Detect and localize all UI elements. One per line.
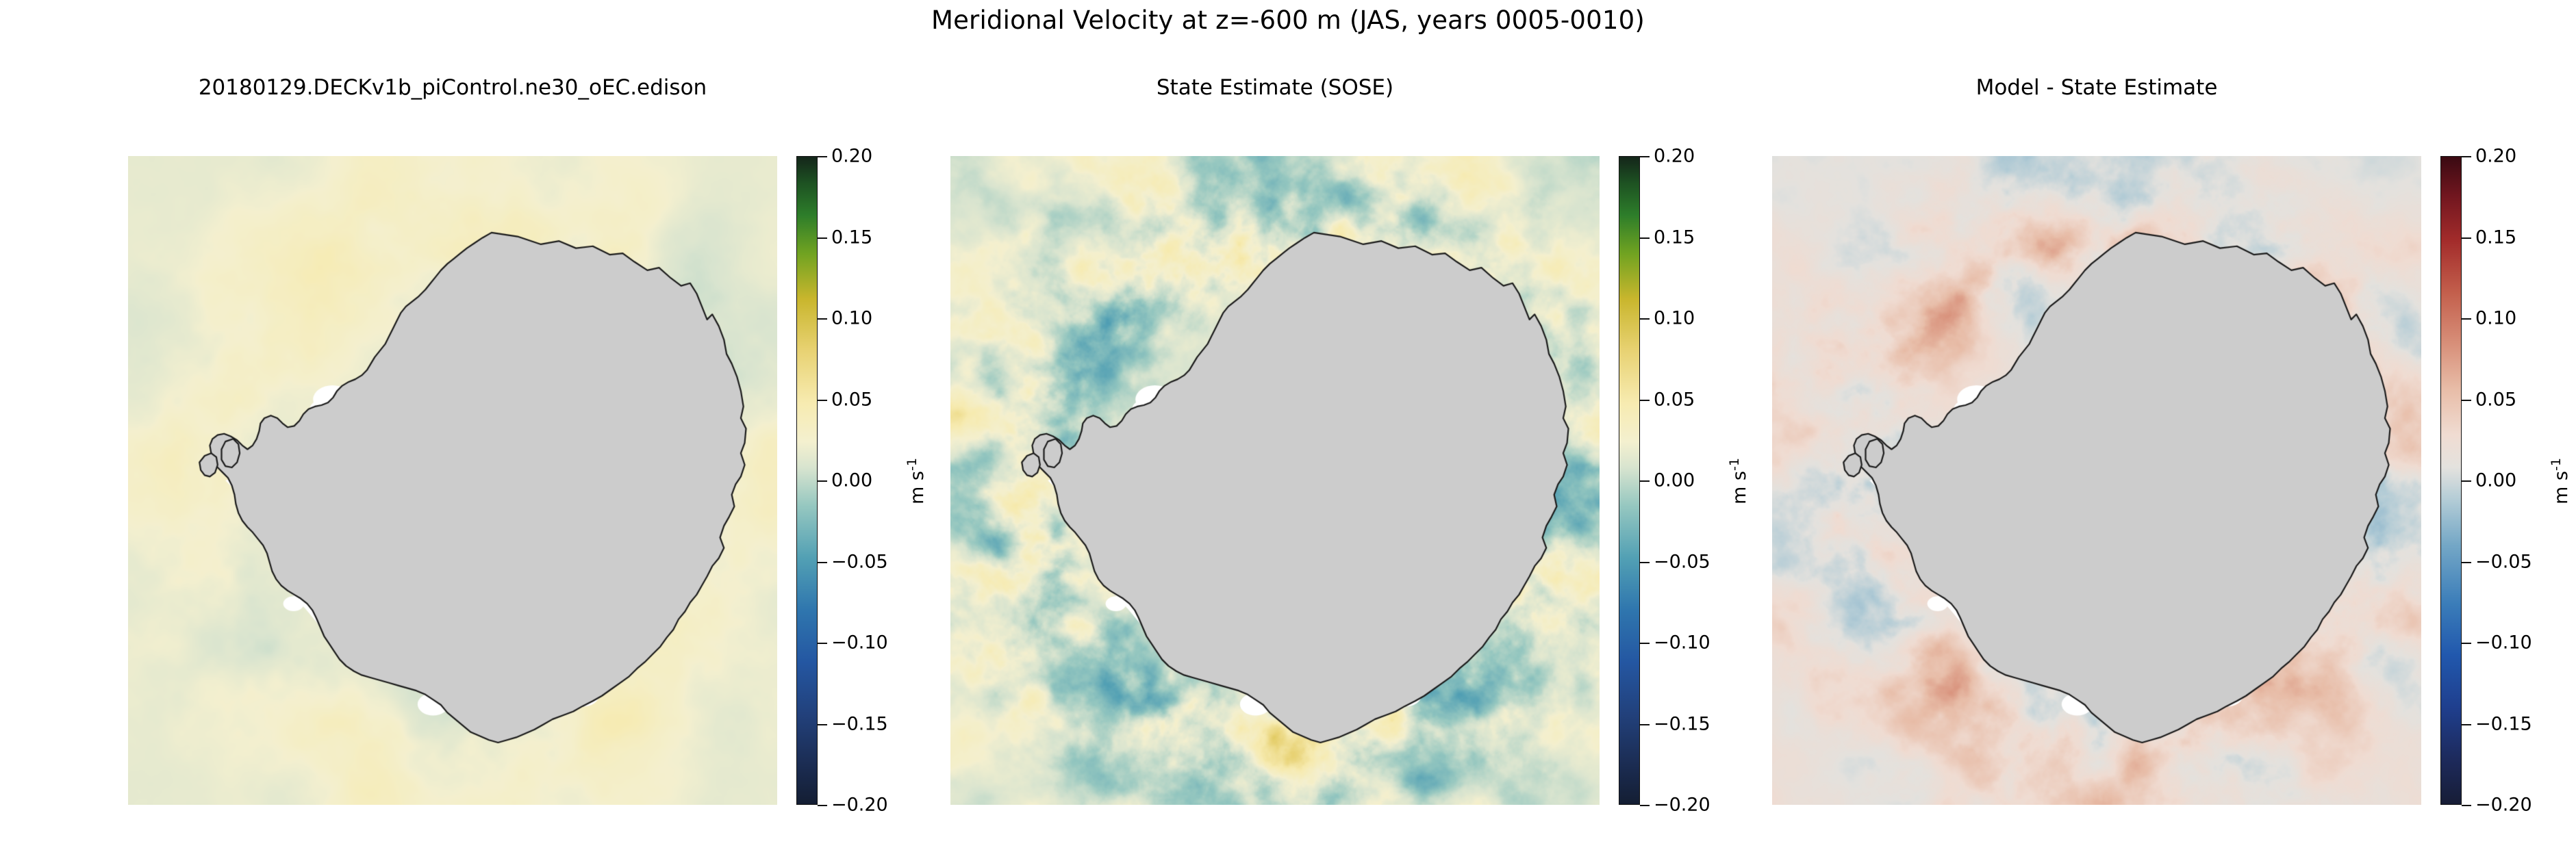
colorbar-tick-label: 0.15 bbox=[1654, 227, 1695, 248]
colorbar-tick-mark bbox=[2462, 237, 2471, 239]
map-panel-difference bbox=[1772, 156, 2421, 805]
colorbar-tick-label: −0.10 bbox=[831, 632, 888, 654]
colorbar-tick-label: −0.05 bbox=[831, 551, 888, 572]
colorbar-tick-mark bbox=[2462, 400, 2471, 401]
colorbar-tick-mark bbox=[1640, 562, 1650, 563]
colorbar-axis-label: m s-1 bbox=[2549, 458, 2572, 504]
colorbar-tick-label: 0.00 bbox=[2475, 470, 2516, 491]
colorbar-tick-label: −0.15 bbox=[831, 713, 888, 734]
colorbar-tick-mark bbox=[2462, 805, 2471, 806]
colorbar-tick-mark bbox=[2462, 724, 2471, 725]
colorbar-tick-mark bbox=[1640, 643, 1650, 644]
map-field-canvas bbox=[128, 156, 777, 805]
colorbar-tick-mark bbox=[818, 237, 827, 239]
colorbar-tick-label: −0.05 bbox=[2475, 551, 2532, 572]
colorbar-tick-mark bbox=[1640, 400, 1650, 401]
colorbar-tick-mark bbox=[1640, 480, 1650, 482]
colorbar-ticks-model: 0.200.150.100.050.00−0.05−0.10−0.15−0.20… bbox=[818, 156, 948, 805]
colorbar-tick-mark bbox=[2462, 318, 2471, 320]
colorbar-tick-mark bbox=[818, 400, 827, 401]
colorbar-tick-label: −0.05 bbox=[1654, 551, 1710, 572]
colorbar-tick-label: 0.15 bbox=[2475, 227, 2516, 248]
colorbar-tick-mark bbox=[2462, 562, 2471, 563]
colorbar-difference bbox=[2440, 156, 2462, 805]
map-panel-model bbox=[128, 156, 777, 805]
colorbar-tick-label: 0.10 bbox=[2475, 308, 2516, 329]
colorbar-tick-mark bbox=[818, 156, 827, 157]
colorbar-tick-label: 0.00 bbox=[831, 470, 872, 491]
figure-suptitle: Meridional Velocity at z=-600 m (JAS, ye… bbox=[0, 5, 2576, 35]
colorbar-state-estimate bbox=[1619, 156, 1640, 805]
colorbar-axis-label: m s-1 bbox=[905, 458, 928, 504]
colorbar-tick-label: −0.15 bbox=[1654, 713, 1710, 734]
colorbar-tick-label: 0.20 bbox=[2475, 146, 2516, 167]
colorbar-tick-label: 0.05 bbox=[831, 389, 872, 410]
colorbar-tick-mark bbox=[2462, 156, 2471, 157]
colorbar-tick-mark bbox=[1640, 156, 1650, 157]
colorbar-tick-mark bbox=[2462, 643, 2471, 644]
colorbar-tick-mark bbox=[818, 724, 827, 725]
colorbar-tick-label: 0.20 bbox=[1654, 146, 1695, 167]
panel-title-state-estimate: State Estimate (SOSE) bbox=[864, 75, 1686, 100]
colorbar-tick-label: −0.15 bbox=[2475, 713, 2532, 734]
colorbar-tick-label: 0.05 bbox=[2475, 389, 2516, 410]
colorbar-tick-label: −0.10 bbox=[2475, 632, 2532, 654]
panel-title-difference: Model - State Estimate bbox=[1686, 75, 2508, 100]
map-panel-state-estimate bbox=[950, 156, 1600, 805]
colorbar-tick-mark bbox=[818, 480, 827, 482]
colorbar-tick-mark bbox=[2462, 480, 2471, 482]
colorbar-tick-mark bbox=[1640, 318, 1650, 320]
colorbar-tick-label: −0.20 bbox=[2475, 795, 2532, 816]
map-field-canvas bbox=[1772, 156, 2421, 805]
colorbar-tick-mark bbox=[818, 318, 827, 320]
colorbar-tick-mark bbox=[1640, 805, 1650, 806]
colorbar-axis-label: m s-1 bbox=[1727, 458, 1750, 504]
colorbar-tick-label: −0.20 bbox=[1654, 795, 1710, 816]
colorbar-tick-label: 0.10 bbox=[831, 308, 872, 329]
colorbar-tick-mark bbox=[818, 643, 827, 644]
colorbar-tick-label: 0.20 bbox=[831, 146, 872, 167]
colorbar-tick-label: −0.10 bbox=[1654, 632, 1710, 654]
colorbar-tick-label: 0.05 bbox=[1654, 389, 1695, 410]
map-field-canvas bbox=[950, 156, 1600, 805]
panel-title-model: 20180129.DECKv1b_piControl.ne30_oEC.edis… bbox=[42, 75, 863, 100]
colorbar-tick-label: 0.10 bbox=[1654, 308, 1695, 329]
colorbar-ticks-state-estimate: 0.200.150.100.050.00−0.05−0.10−0.15−0.20… bbox=[1640, 156, 1770, 805]
colorbar-ticks-difference: 0.200.150.100.050.00−0.05−0.10−0.15−0.20… bbox=[2462, 156, 2576, 805]
colorbar-tick-label: 0.15 bbox=[831, 227, 872, 248]
colorbar-tick-mark bbox=[1640, 724, 1650, 725]
colorbar-tick-label: 0.00 bbox=[1654, 470, 1695, 491]
colorbar-tick-mark bbox=[818, 562, 827, 563]
colorbar-tick-mark bbox=[818, 805, 827, 806]
colorbar-tick-mark bbox=[1640, 237, 1650, 239]
colorbar-tick-label: −0.20 bbox=[831, 795, 888, 816]
colorbar-model bbox=[796, 156, 818, 805]
